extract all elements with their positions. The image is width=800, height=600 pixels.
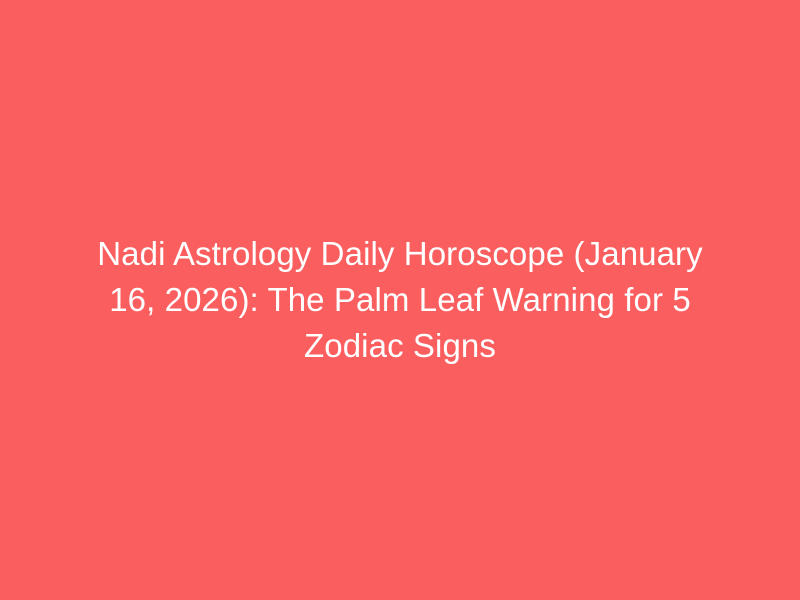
title-block: Nadi Astrology Daily Horoscope (January … [50, 231, 750, 369]
title-card: Nadi Astrology Daily Horoscope (January … [0, 0, 800, 600]
page-title: Nadi Astrology Daily Horoscope (January … [70, 231, 730, 369]
